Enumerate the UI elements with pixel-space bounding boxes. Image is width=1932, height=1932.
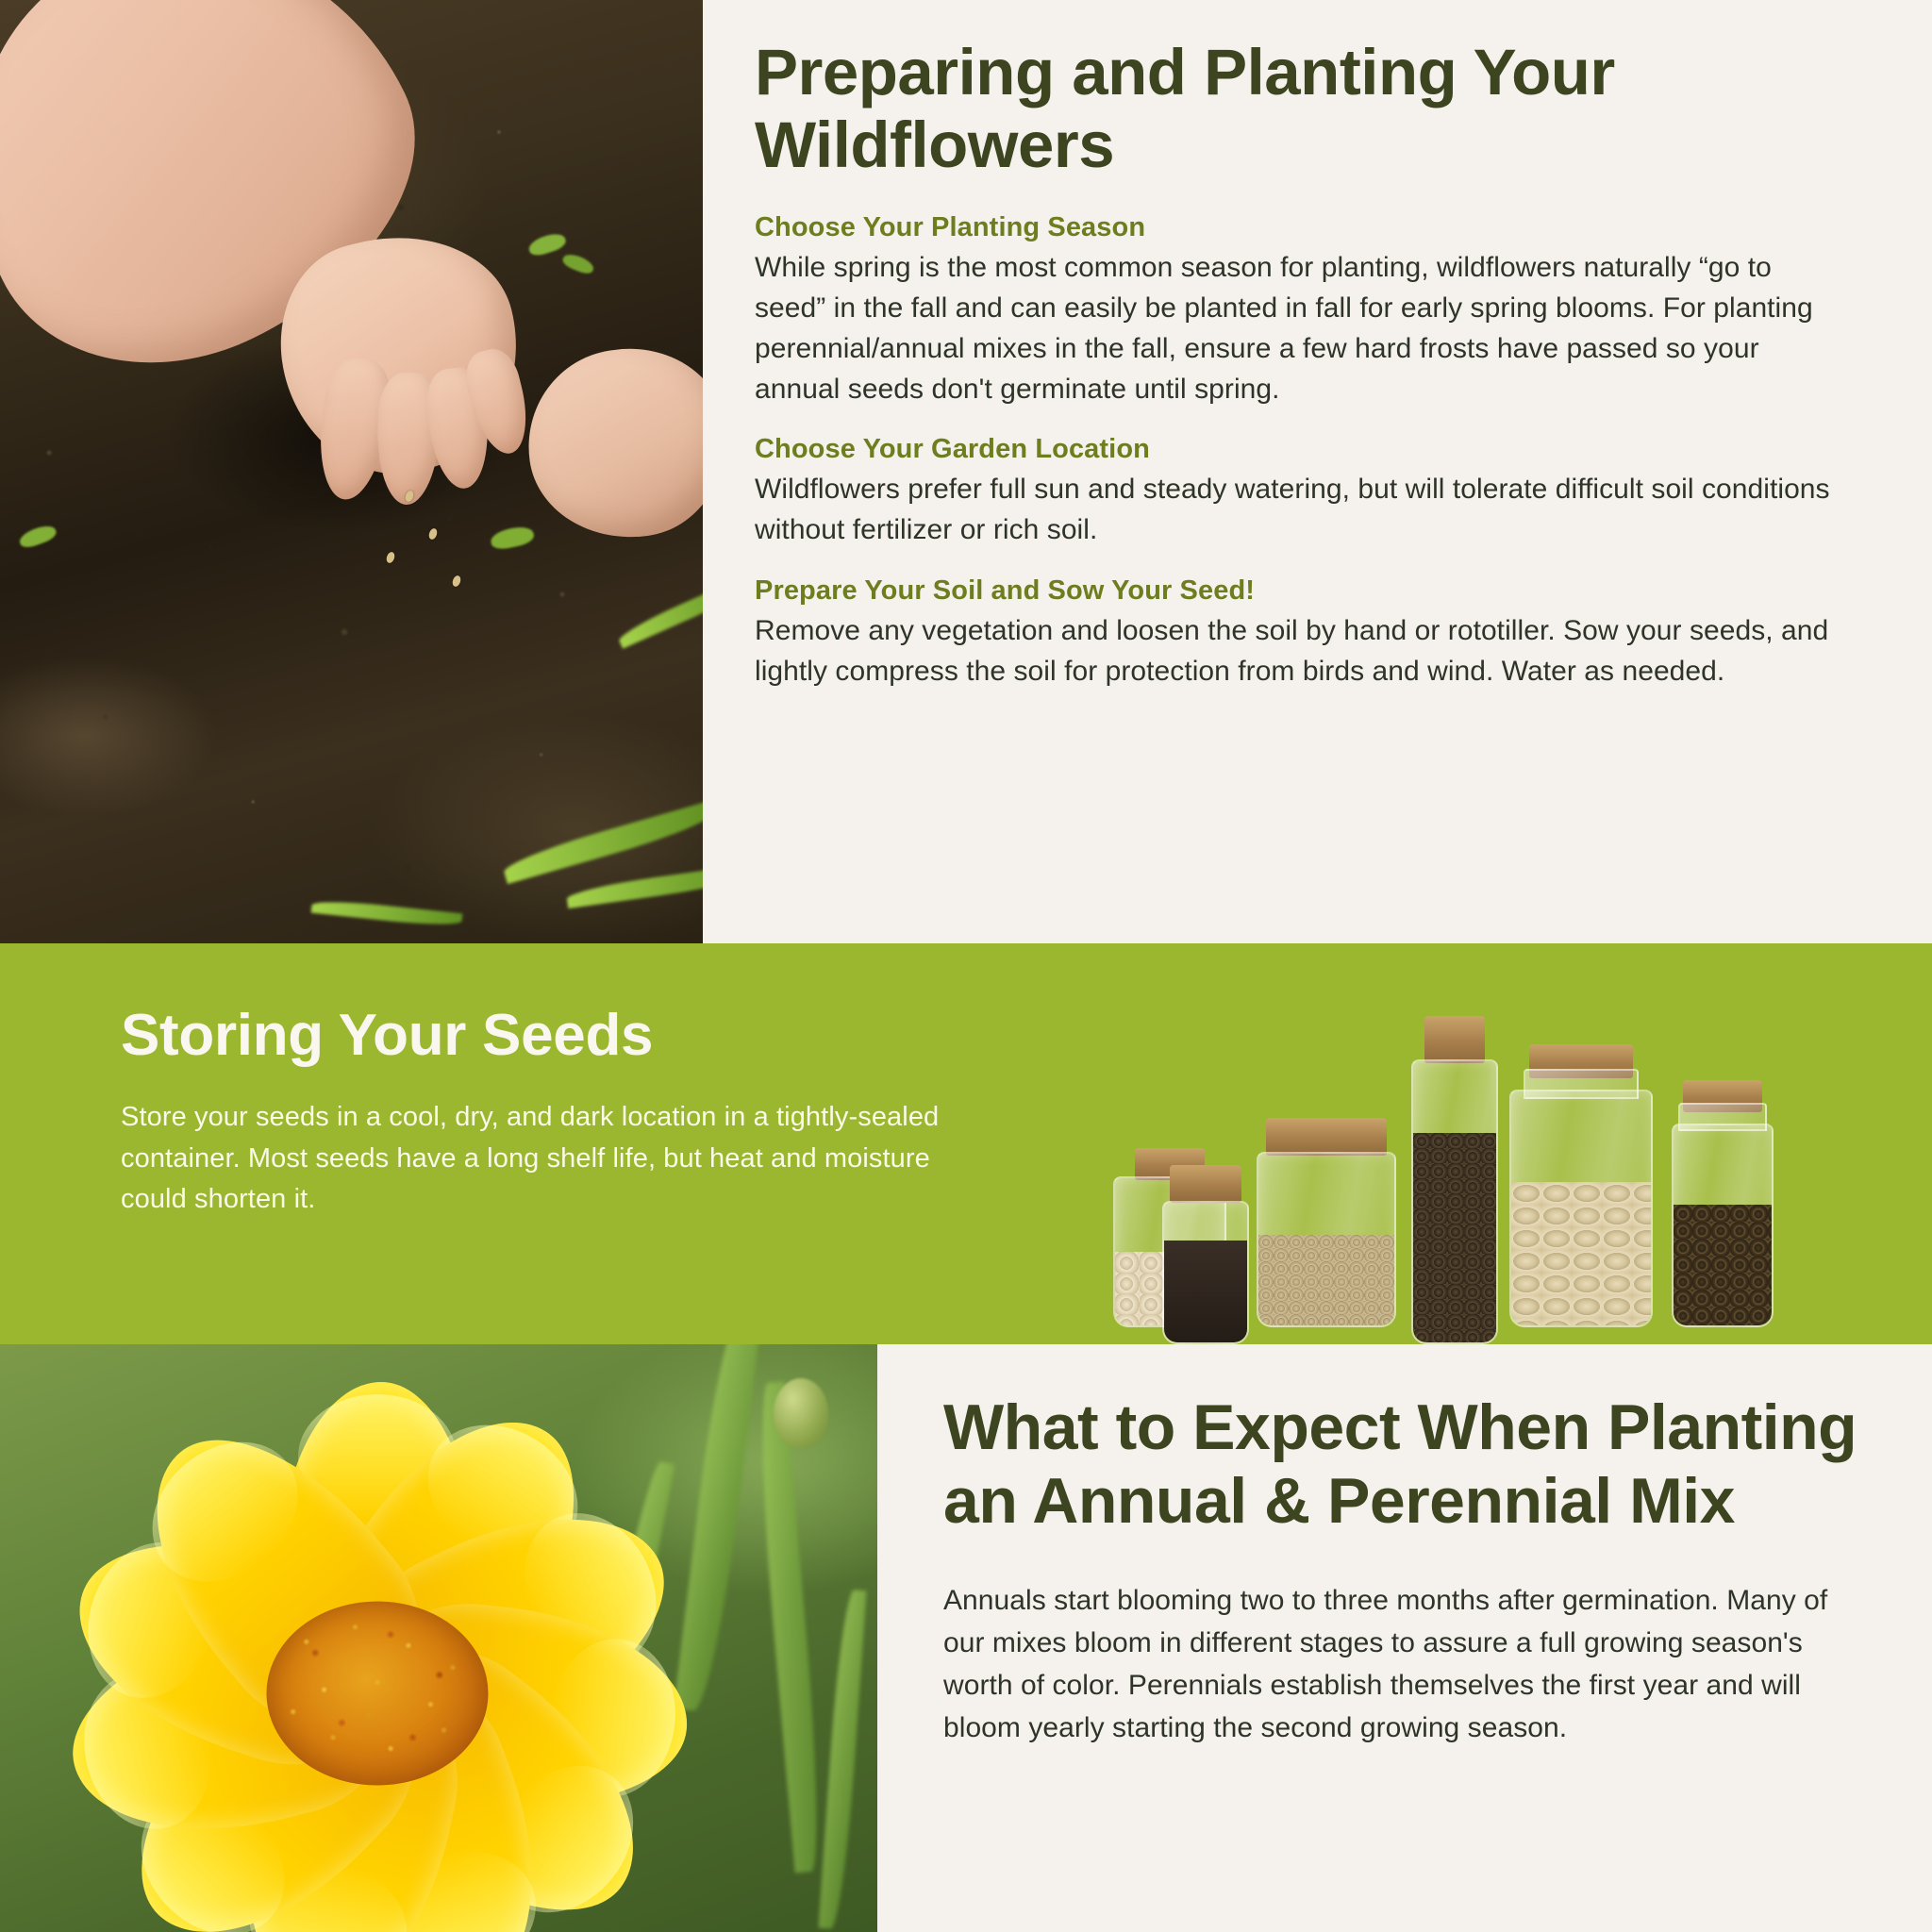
jar-glass [1257, 1152, 1396, 1327]
what-to-expect-body: Annuals start blooming two to three mont… [943, 1579, 1875, 1749]
subheading-planting-season: Choose Your Planting Season [755, 212, 1830, 243]
jar-tan-seeds [1257, 1118, 1396, 1327]
cork-lid [1170, 1165, 1241, 1203]
block-planting-season: Choose Your Planting Season While spring… [755, 212, 1830, 410]
coreopsis-flower [0, 1363, 877, 1932]
jar-mixed-seeds [1672, 1080, 1774, 1327]
cork-lid [1424, 1016, 1485, 1063]
band-text-column: Storing Your Seeds Store your seeds in a… [121, 1002, 970, 1221]
jar-contents [1258, 1235, 1394, 1325]
subheading-prepare-soil: Prepare Your Soil and Sow Your Seed! [755, 575, 1830, 607]
flower-center-texture [267, 1602, 489, 1786]
jar-pumpkin-seeds [1509, 1044, 1653, 1327]
section-storing-your-seeds: Storing Your Seeds Store your seeds in a… [0, 943, 1932, 1344]
jar-glass [1672, 1124, 1774, 1327]
jar-contents [1164, 1241, 1247, 1342]
block-prepare-soil: Prepare Your Soil and Sow Your Seed! Rem… [755, 575, 1830, 691]
subheading-garden-location: Choose Your Garden Location [755, 434, 1830, 465]
section-what-to-expect: What to Expect When Planting an Annual &… [0, 1344, 1932, 1932]
body-planting-season: While spring is the most common season f… [755, 247, 1830, 410]
yellow-wildflower-photo [0, 1344, 877, 1932]
jar-contents [1511, 1182, 1651, 1325]
jar-glass [1162, 1201, 1249, 1344]
seed-jars-photo [1113, 943, 1774, 1344]
storing-seeds-body: Store your seeds in a cool, dry, and dar… [121, 1097, 951, 1221]
infographic-page: Preparing and Planting Your Wildflowers … [0, 0, 1932, 1932]
hand-sowing-seeds-photo [0, 0, 703, 943]
what-to-expect-title: What to Expect When Planting an Annual &… [943, 1391, 1875, 1538]
jar-contents [1413, 1133, 1496, 1342]
jar-glass [1509, 1090, 1653, 1327]
jar-glass [1411, 1059, 1498, 1344]
flower-center [267, 1602, 489, 1786]
jar-dark-seeds [1162, 1165, 1249, 1344]
top-text-column: Preparing and Planting Your Wildflowers … [755, 0, 1887, 943]
jar-tall-tube [1411, 1016, 1498, 1344]
storing-seeds-title: Storing Your Seeds [121, 1002, 970, 1069]
cork-lid [1266, 1118, 1387, 1156]
block-garden-location: Choose Your Garden Location Wildflowers … [755, 434, 1830, 550]
bottom-text-column: What to Expect When Planting an Annual &… [943, 1344, 1932, 1932]
body-prepare-soil: Remove any vegetation and loosen the soi… [755, 610, 1830, 691]
page-title: Preparing and Planting Your Wildflowers [755, 36, 1830, 182]
jar-contents [1674, 1205, 1772, 1325]
section-preparing-and-planting: Preparing and Planting Your Wildflowers … [0, 0, 1932, 943]
body-garden-location: Wildflowers prefer full sun and steady w… [755, 469, 1830, 550]
